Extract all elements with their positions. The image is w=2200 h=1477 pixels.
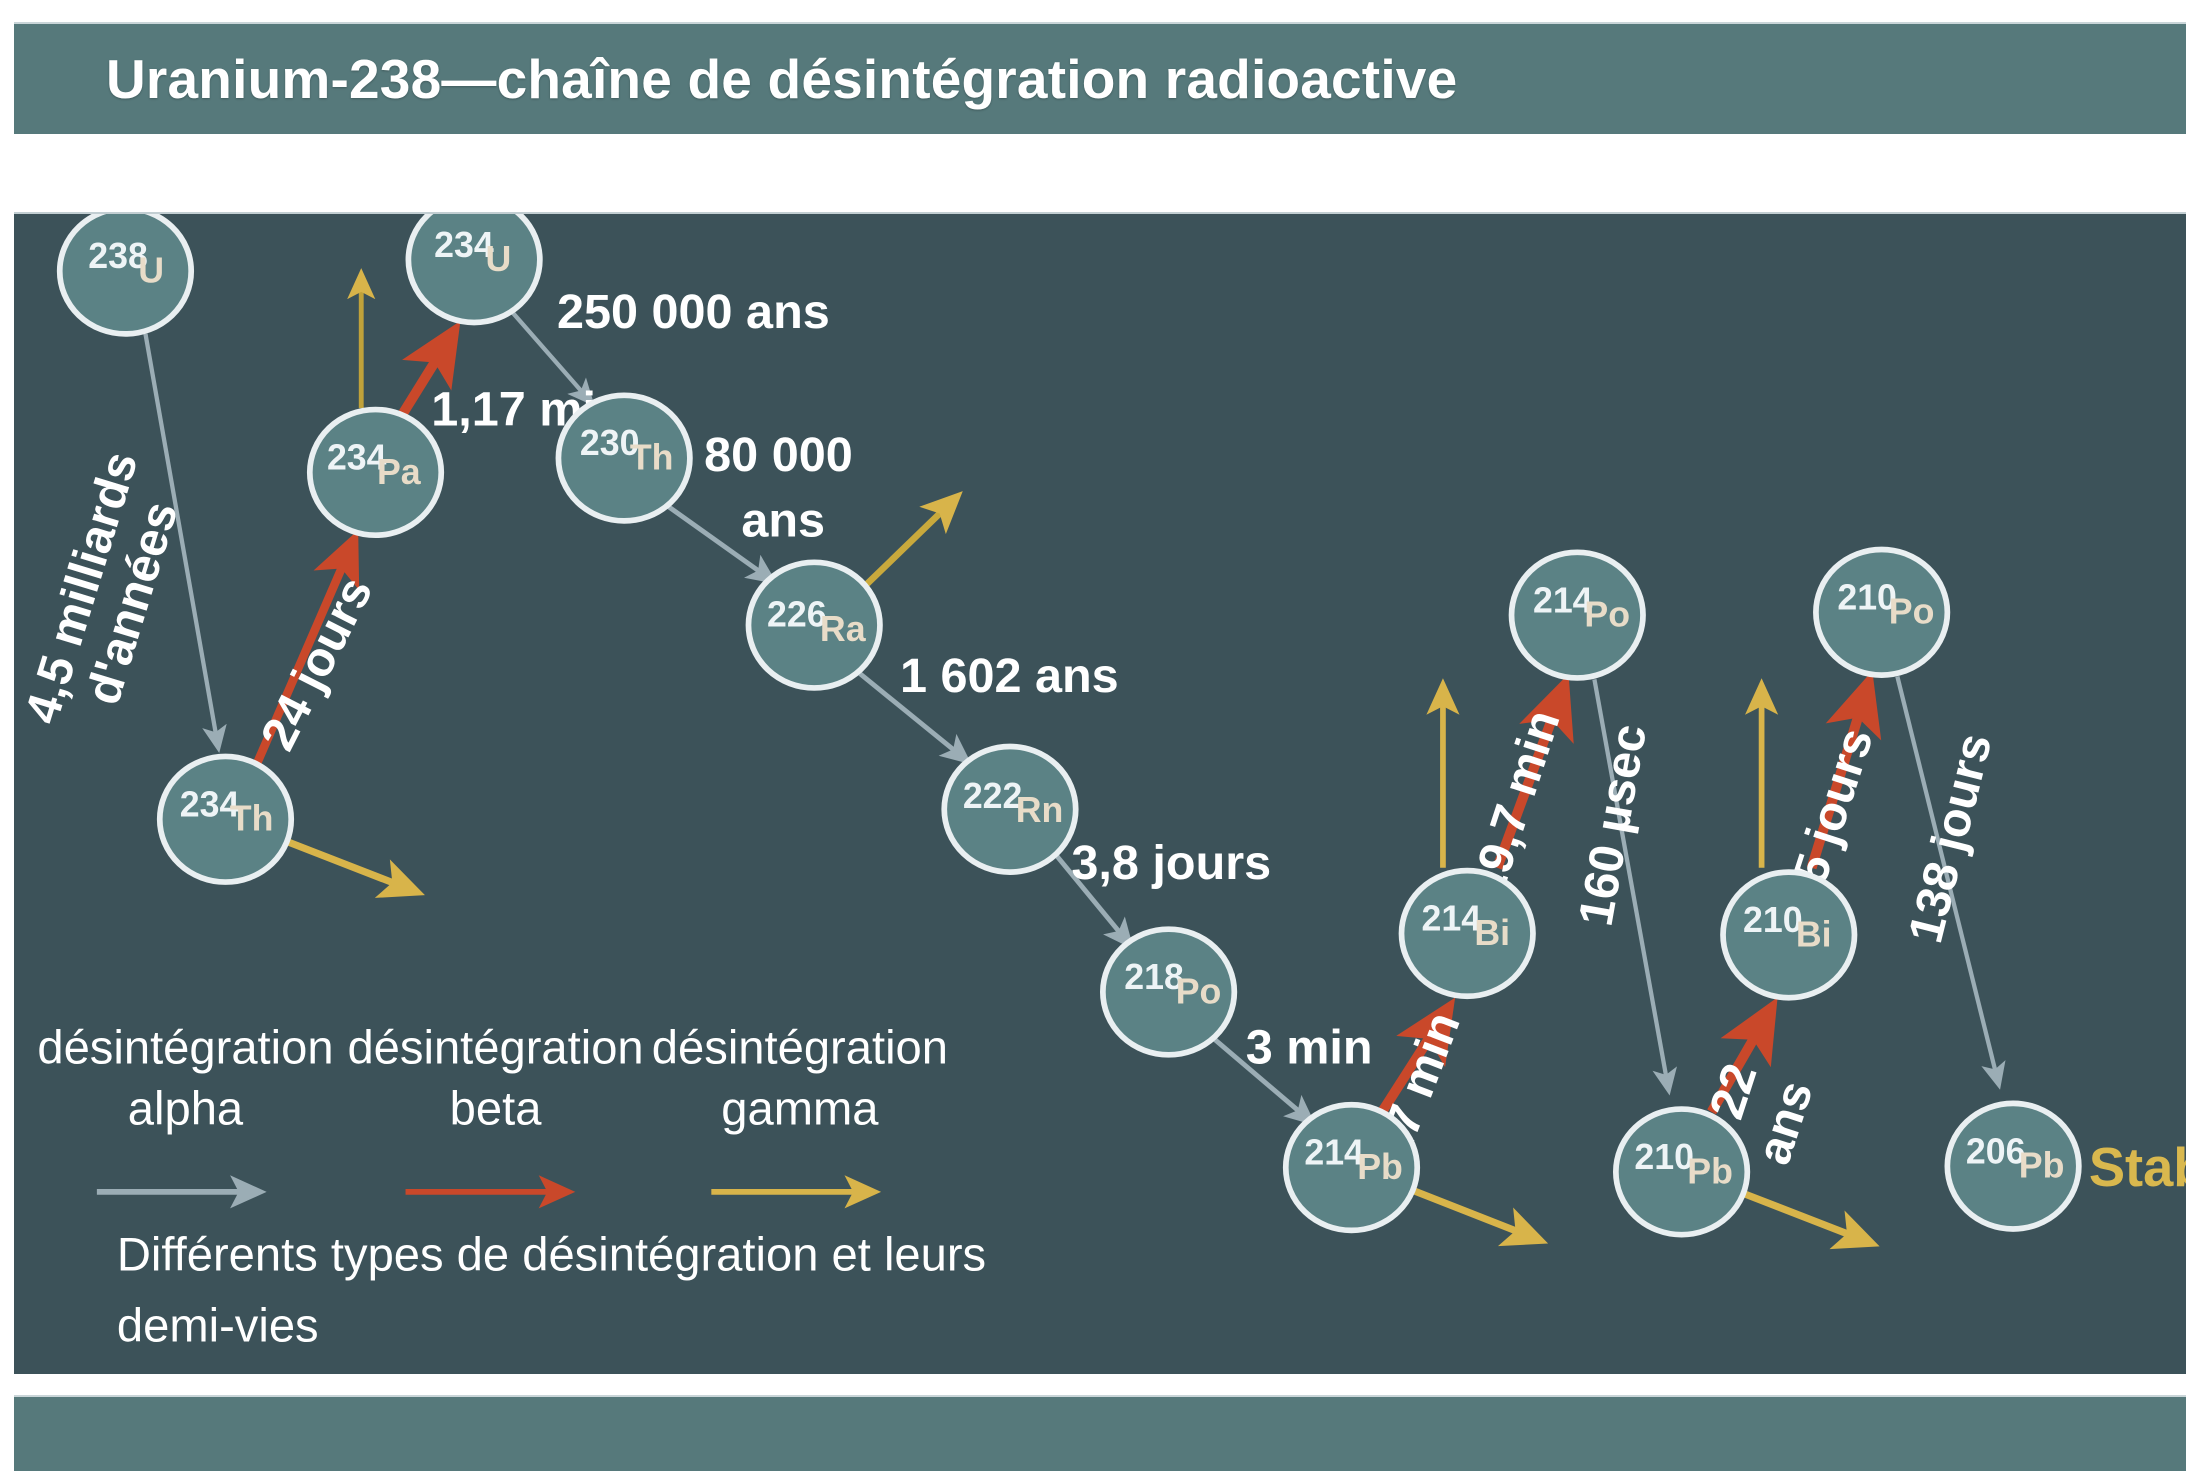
nuclide-node-rn222[interactable]: 222 Rn xyxy=(944,746,1075,872)
nuclide-symbol-bi210: Bi xyxy=(1796,914,1832,954)
label-ra226-rn222: 1 602 ans xyxy=(900,649,1119,703)
nuclide-mass-rn222: 222 xyxy=(963,776,1023,816)
nuclide-mass-pb214: 214 xyxy=(1304,1133,1364,1173)
nuclide-symbol-po214: Po xyxy=(1584,595,1630,635)
nuclide-mass-bi214: 214 xyxy=(1422,899,1482,939)
legend-gamma-line1: désintégration xyxy=(652,1020,948,1073)
legend-item-beta: désintégration beta xyxy=(347,1020,643,1191)
page-title: Uranium-238—chaîne de désintégration rad… xyxy=(14,47,1457,111)
nuclide-node-u234[interactable]: 234 U xyxy=(408,214,539,322)
nuclide-symbol-u234: U xyxy=(486,239,512,279)
nuclide-symbol-po210: Po xyxy=(1889,592,1935,632)
nuclide-symbol-th230: Th xyxy=(630,438,674,478)
arrow-gamma-pb210 xyxy=(1743,1193,1872,1243)
nuclide-node-u238[interactable]: 238 U xyxy=(60,214,191,334)
legend-item-gamma: désintégration gamma xyxy=(652,1020,948,1191)
legend-alpha-line1: désintégration xyxy=(37,1020,333,1073)
nuclide-node-pa234[interactable]: 234 Pa xyxy=(310,410,441,536)
decay-chain-svg: 4,5 milliards d'années 24 jours 1,17 min… xyxy=(14,214,2186,1374)
arrow-gamma-th234 xyxy=(288,842,417,892)
legend-beta-line1: désintégration xyxy=(347,1020,643,1073)
nuclide-symbol-pb214: Pb xyxy=(1357,1147,1403,1187)
page-root: Uranium-238—chaîne de désintégration rad… xyxy=(0,0,2200,1477)
arrow-gamma-pb214 xyxy=(1413,1190,1540,1240)
nuclide-node-pb206[interactable]: 206 Pb xyxy=(1947,1103,2078,1229)
stable-badge: Stable xyxy=(2089,1137,2186,1198)
nuclide-symbol-th234: Th xyxy=(230,799,274,839)
nuclide-node-th230[interactable]: 230 Th xyxy=(558,395,689,521)
header-band: Uranium-238—chaîne de désintégration rad… xyxy=(14,22,2186,134)
legend-alpha-line2: alpha xyxy=(128,1082,244,1135)
nuclide-symbol-ra226: Ra xyxy=(820,609,867,649)
nuclide-node-po218[interactable]: 218 Po xyxy=(1103,929,1234,1055)
nuclide-node-th234[interactable]: 234 Th xyxy=(160,756,291,882)
nuclide-symbol-pb210: Pb xyxy=(1687,1151,1733,1191)
nuclide-node-bi210[interactable]: 210 Bi xyxy=(1723,872,1854,998)
legend-item-alpha: désintégration alpha xyxy=(37,1020,333,1191)
nuclide-node-po214[interactable]: 214 Po xyxy=(1512,552,1643,678)
nuclide-mass-pb206: 206 xyxy=(1966,1131,2026,1171)
nuclide-symbol-pa234: Pa xyxy=(377,452,422,492)
legend-caption-line1: Différents types de désintégration et le… xyxy=(117,1227,986,1280)
legend-caption-line2: demi-vies xyxy=(117,1299,319,1352)
label-rn222-po218: 3,8 jours xyxy=(1071,836,1271,890)
label-po214-pb210: 160 µsec xyxy=(1569,720,1658,930)
label-th230-ra226-line2: ans xyxy=(741,494,825,548)
legend: désintégration alpha désintégration beta… xyxy=(37,1020,986,1351)
label-po210-pb206: 138 jours xyxy=(1898,728,2002,948)
nuclide-node-ra226[interactable]: 226 Ra xyxy=(748,562,879,688)
footer-band xyxy=(14,1395,2186,1471)
label-th230-ra226-line1: 80 000 xyxy=(704,428,853,482)
nuclide-node-po210[interactable]: 210 Po xyxy=(1816,549,1947,675)
arrow-gamma-ra226 xyxy=(863,497,957,588)
nuclide-symbol-pb206: Pb xyxy=(2019,1146,2065,1186)
nuclide-mass-bi210: 210 xyxy=(1743,900,1803,940)
nuclide-node-pb210[interactable]: 210 Pb xyxy=(1616,1109,1747,1235)
nuclide-symbol-u238: U xyxy=(138,251,164,291)
decay-chain-diagram: 4,5 milliards d'années 24 jours 1,17 min… xyxy=(14,212,2186,1374)
legend-beta-line2: beta xyxy=(450,1082,543,1135)
nuclide-node-pb214[interactable]: 214 Pb xyxy=(1286,1105,1417,1231)
label-u234-th230: 250 000 ans xyxy=(557,285,830,339)
label-th234-pa234: 24 jours xyxy=(251,568,384,758)
nuclide-mass-pb210: 210 xyxy=(1634,1137,1694,1177)
nuclide-node-bi214[interactable]: 214 Bi xyxy=(1402,871,1533,997)
nuclide-symbol-po218: Po xyxy=(1176,971,1222,1011)
nuclide-symbol-rn222: Rn xyxy=(1016,790,1064,830)
nuclide-symbol-bi214: Bi xyxy=(1474,913,1510,953)
label-po218-pb214: 3 min xyxy=(1246,1020,1373,1074)
label-bi210-po210: 5 jours xyxy=(1783,722,1884,890)
legend-gamma-line2: gamma xyxy=(721,1082,879,1135)
nuclide-mass-ra226: 226 xyxy=(767,595,827,635)
